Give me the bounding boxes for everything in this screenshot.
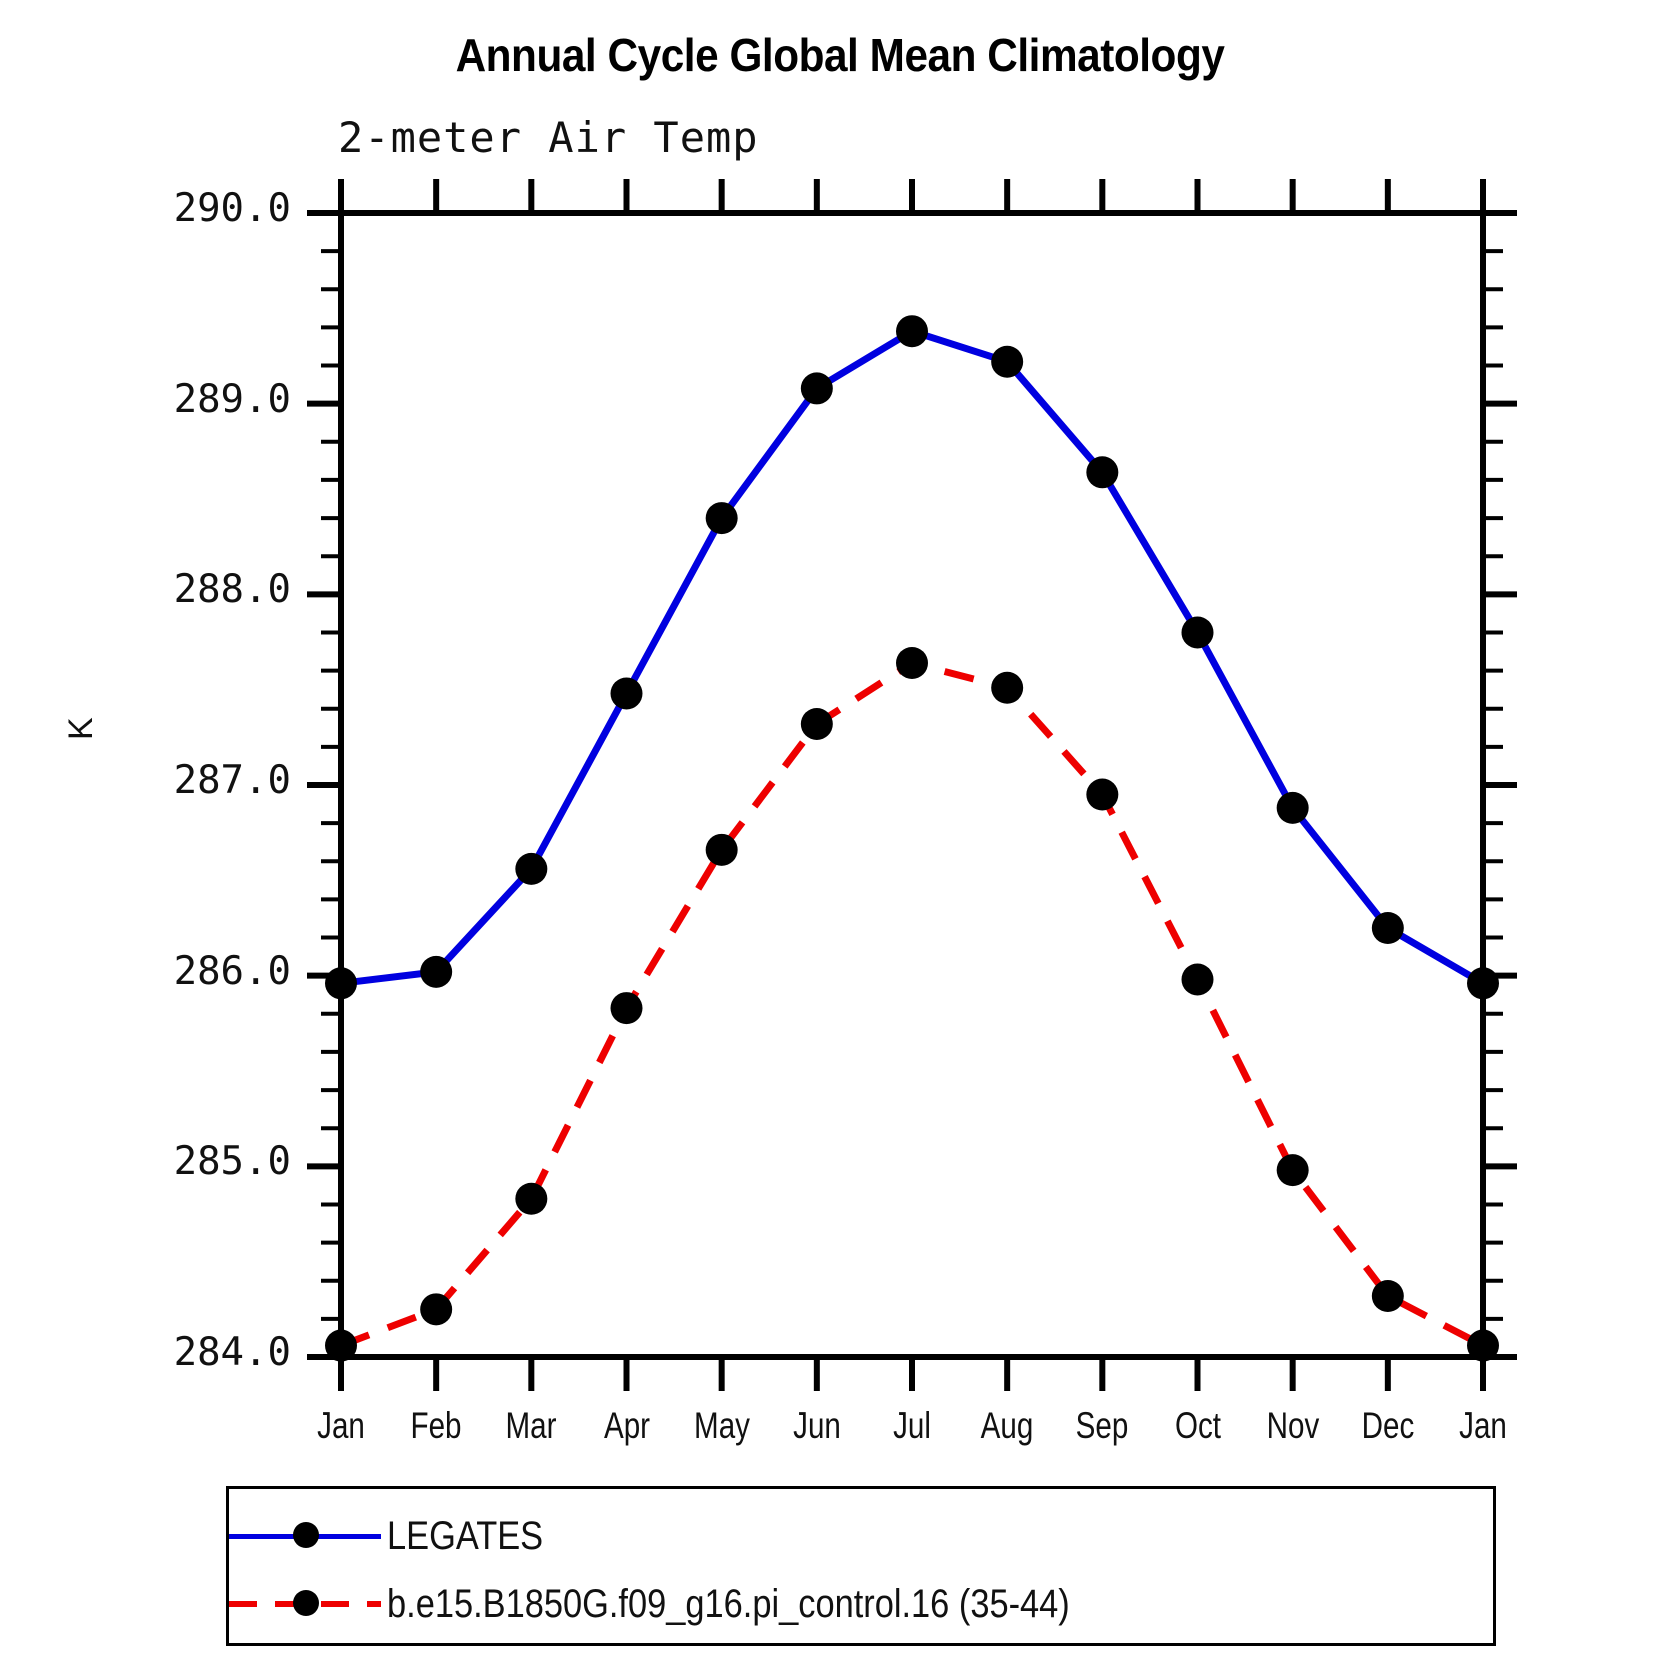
chart-canvas: Annual Cycle Global Mean Climatology 2-m… [0,0,1680,1680]
legend-swatch-line-icon [229,1516,381,1556]
legend-swatch-dashed-line-icon [229,1584,381,1624]
series-line-1 [341,663,1483,1346]
data-point [1467,967,1499,999]
legend-item-1[interactable]: b.e15.B1850G.f09_g16.pi_control.16 (35-4… [229,1571,1181,1637]
data-point [1182,963,1214,995]
data-point [515,853,547,885]
data-point [611,992,643,1024]
data-point [896,647,928,679]
data-point [515,1183,547,1215]
legend-label-1: b.e15.B1850G.f09_g16.pi_control.16 (35-4… [387,1582,1070,1627]
legend-item-0[interactable]: LEGATES [229,1503,569,1569]
data-point [1277,1154,1309,1186]
data-point [1372,1280,1404,1312]
data-point [896,315,928,347]
axes-layer [307,179,1517,1391]
data-point [1086,779,1118,811]
data-point [1086,456,1118,488]
series-layer [325,315,1499,1361]
data-point [420,956,452,988]
plot-area [0,0,1680,1680]
data-point [801,372,833,404]
data-point [991,346,1023,378]
data-point [1277,792,1309,824]
data-point [706,502,738,534]
legend-label-0: LEGATES [387,1514,543,1559]
data-point [1467,1330,1499,1362]
data-point [801,708,833,740]
data-point [325,1330,357,1362]
data-point [1182,616,1214,648]
data-point [706,834,738,866]
legend: LEGATES b.e15.B1850G.f09_g16.pi_control.… [226,1486,1496,1646]
data-point [420,1293,452,1325]
data-point [325,967,357,999]
data-point [991,672,1023,704]
data-point [1372,912,1404,944]
data-point [611,677,643,709]
